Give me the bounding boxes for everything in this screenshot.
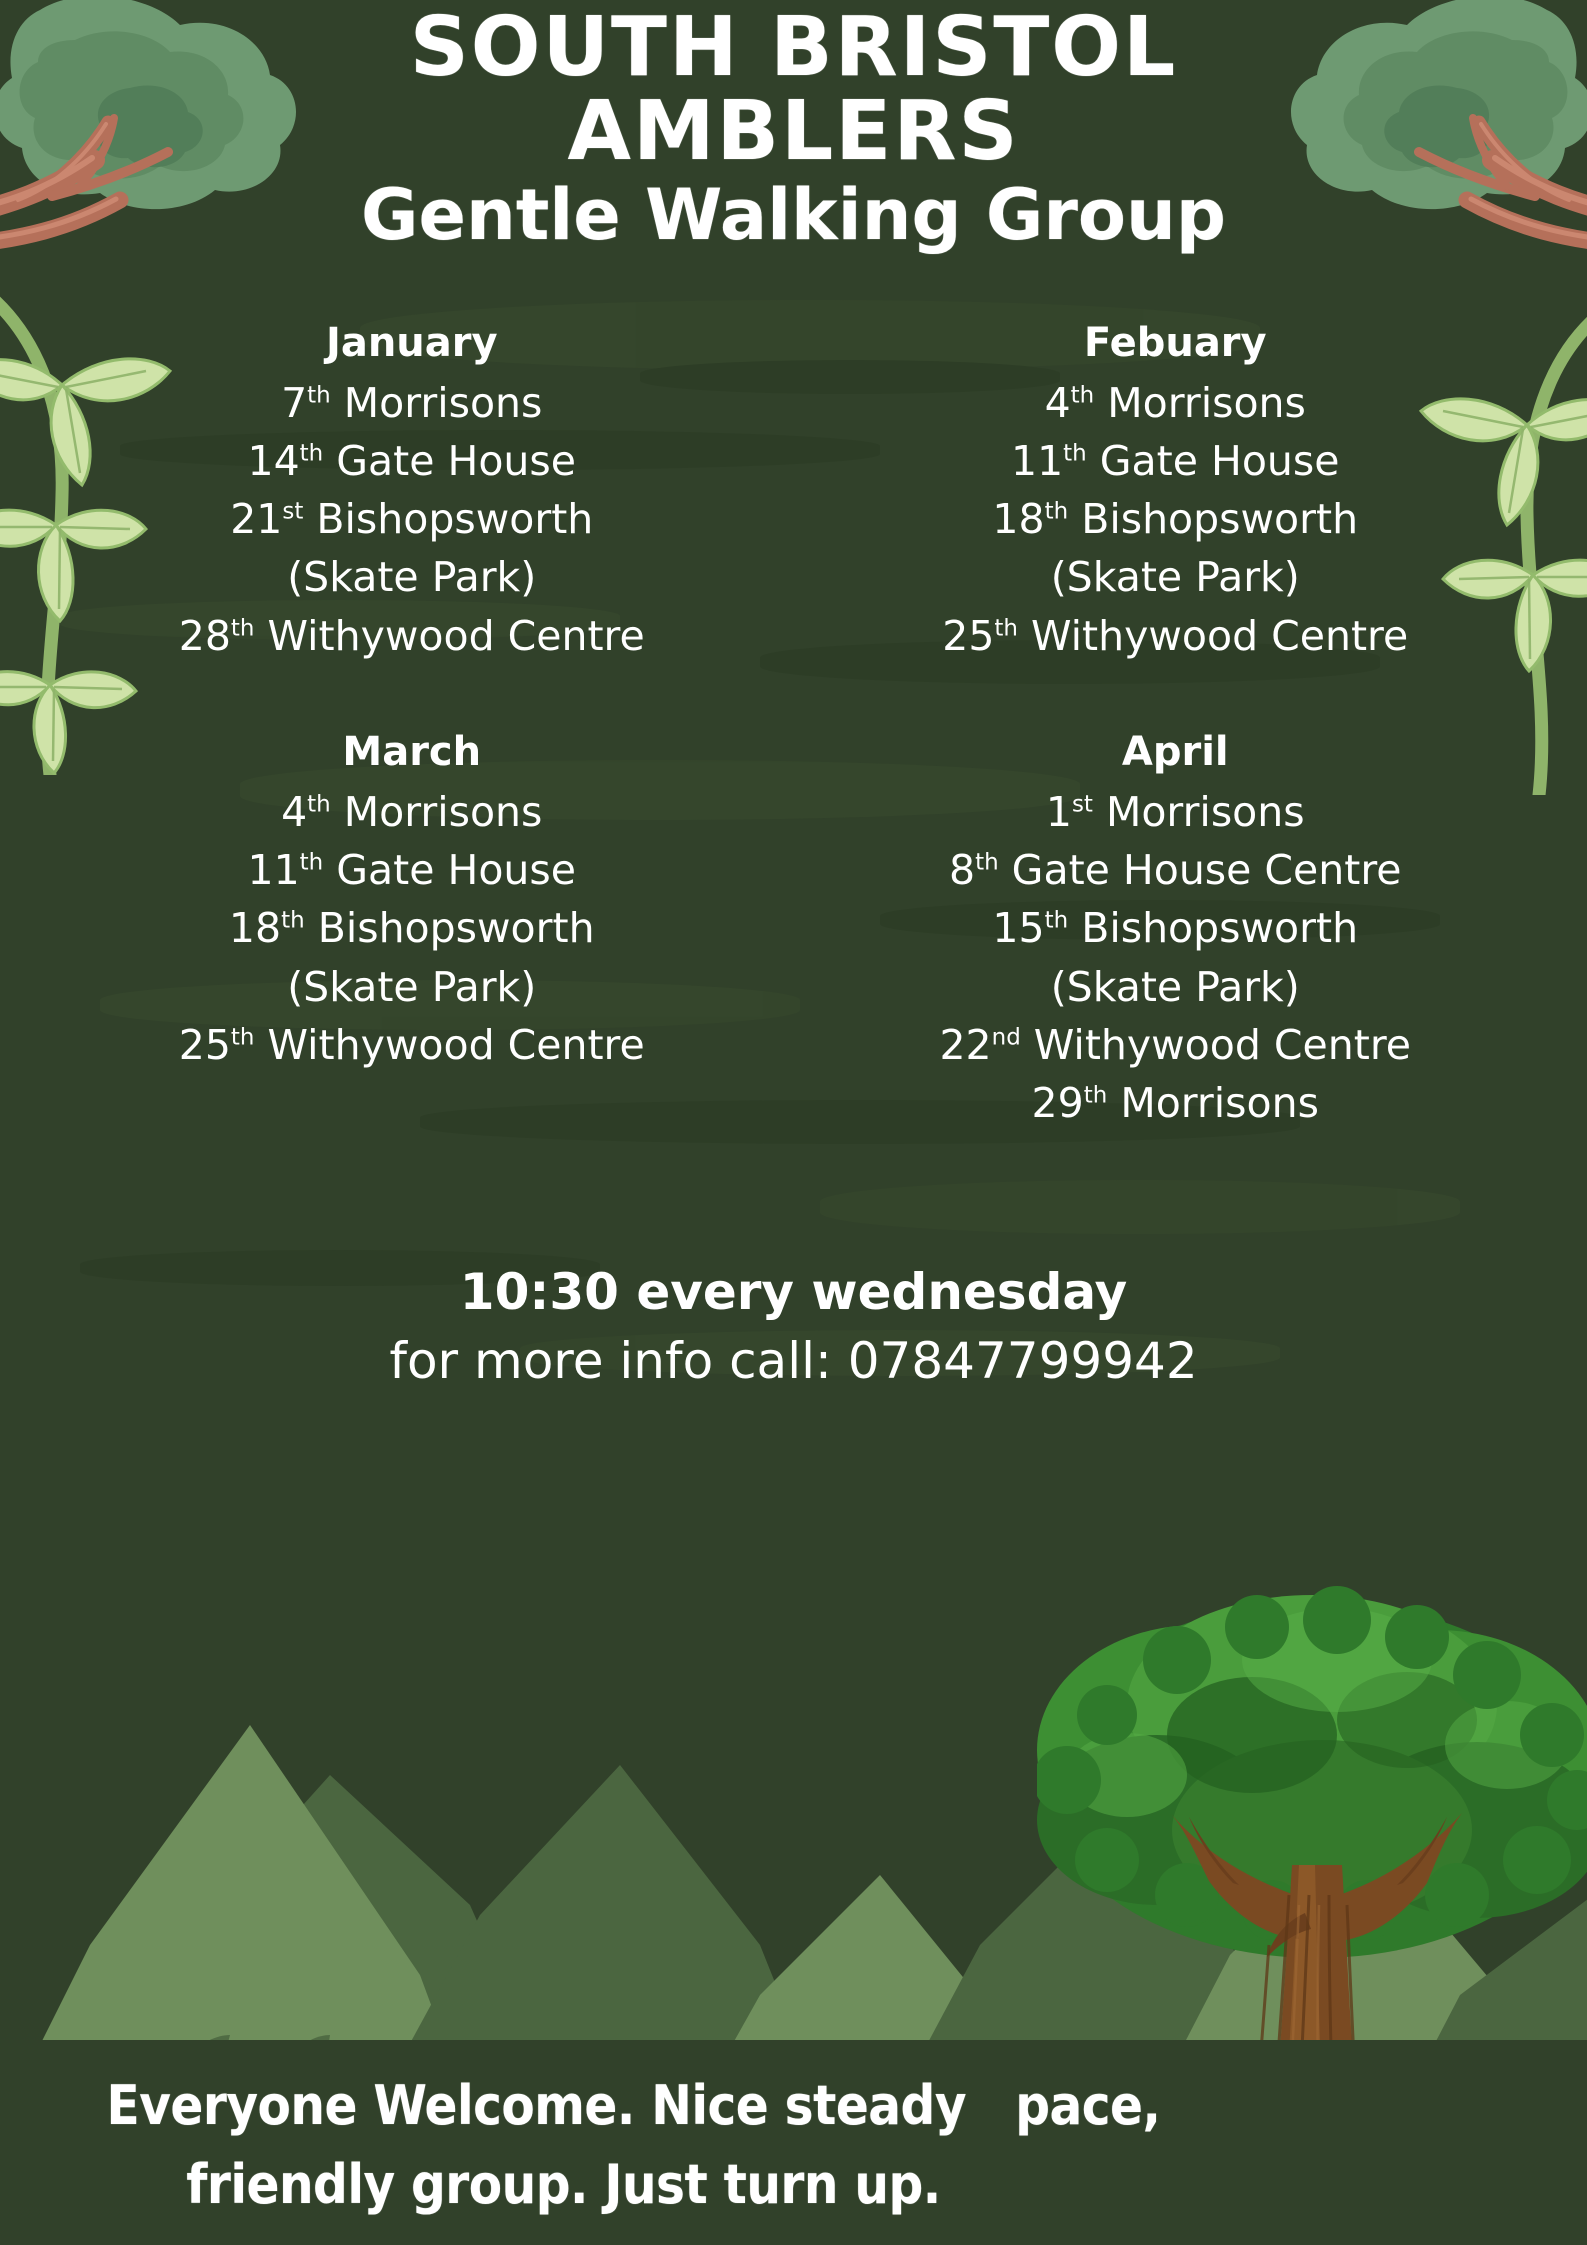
schedule-grid: January7th Morrisons14th Gate House21st …: [0, 316, 1587, 1132]
footer-line-2: friendly group. Just turn up.: [0, 2146, 1587, 2224]
schedule-entry: 14th Gate House: [30, 432, 794, 490]
entry-place: Bishopsworth: [1068, 904, 1358, 952]
entry-ordinal: th: [307, 791, 331, 817]
entry-day: 15: [992, 904, 1044, 952]
entry-place: Morrisons: [1094, 379, 1306, 427]
entry-ordinal: th: [231, 615, 255, 641]
entry-place: Withywood Centre: [1021, 1021, 1411, 1069]
footer-line-1: Everyone Welcome. Nice steady pace,: [0, 2067, 1587, 2145]
entry-ordinal: th: [975, 849, 999, 875]
entry-day: 18: [992, 495, 1044, 543]
entry-ordinal: th: [1071, 382, 1095, 408]
entry-day: 21: [230, 495, 282, 543]
schedule-entry: 4th Morrisons: [794, 374, 1558, 432]
month-name: April: [794, 725, 1558, 779]
meeting-time: 10:30 every wednesday: [0, 1260, 1587, 1325]
entry-day: 25: [179, 1021, 231, 1069]
entry-day: 29: [1032, 1079, 1084, 1127]
schedule-entry: 1st Morrisons: [794, 783, 1558, 841]
entry-place: Morrisons: [331, 379, 543, 427]
entry-ordinal: th: [994, 615, 1018, 641]
entry-ordinal: th: [231, 1024, 255, 1050]
entry-day: 28: [179, 612, 231, 660]
month-column: January7th Morrisons14th Gate House21st …: [30, 316, 794, 665]
entry-ordinal: st: [1072, 791, 1093, 817]
entry-place: Gate House: [323, 437, 576, 485]
title-line-2: AMBLERS: [0, 90, 1587, 174]
entry-place: Morrisons: [1093, 788, 1305, 836]
entry-day: 22: [939, 1021, 991, 1069]
entry-ordinal: th: [1084, 1082, 1108, 1108]
schedule-entry: 7th Morrisons: [30, 374, 794, 432]
footer-banner: Everyone Welcome. Nice steady pace, frie…: [0, 2040, 1587, 2245]
schedule-entry: 11th Gate House: [30, 841, 794, 899]
entry-place: Withywood Centre: [254, 612, 644, 660]
month-name: January: [30, 316, 794, 370]
entry-place: Gate House: [1087, 437, 1340, 485]
entry-place: Bishopsworth: [1068, 495, 1358, 543]
entry-sublocation: (Skate Park): [30, 548, 794, 606]
schedule-entry: 25th Withywood Centre: [30, 1016, 794, 1074]
entry-place: Bishopsworth: [303, 495, 593, 543]
entry-day: 18: [229, 904, 281, 952]
month-name: Febuary: [794, 316, 1558, 370]
entry-day: 1: [1046, 788, 1072, 836]
schedule-entry: 18th Bishopsworth: [794, 490, 1558, 548]
entry-place: Morrisons: [1107, 1079, 1319, 1127]
schedule-entry: 4th Morrisons: [30, 783, 794, 841]
schedule-entry: 29th Morrisons: [794, 1074, 1558, 1132]
entry-place: Gate House: [323, 846, 576, 894]
entry-ordinal: st: [282, 499, 303, 525]
entry-ordinal: th: [1063, 440, 1087, 466]
poster-root: SOUTH BRISTOL AMBLERS Gentle Walking Gro…: [0, 0, 1587, 2245]
entry-place: Bishopsworth: [305, 904, 595, 952]
entry-day: 4: [281, 788, 307, 836]
title-line-1: SOUTH BRISTOL: [0, 6, 1587, 90]
info-block: 10:30 every wednesday for more info call…: [0, 1260, 1587, 1394]
entry-place: Morrisons: [331, 788, 543, 836]
entry-sublocation: (Skate Park): [794, 548, 1558, 606]
entry-place: Withywood Centre: [254, 1021, 644, 1069]
entry-ordinal: th: [281, 908, 305, 934]
entry-day: 4: [1045, 379, 1071, 427]
month-column: March4th Morrisons11th Gate House18th Bi…: [30, 725, 794, 1132]
entry-day: 11: [1011, 437, 1063, 485]
entry-ordinal: th: [1045, 908, 1069, 934]
schedule-entry: 11th Gate House: [794, 432, 1558, 490]
schedule-entry: 18th Bishopsworth: [30, 899, 794, 957]
schedule-entry: 22nd Withywood Centre: [794, 1016, 1558, 1074]
schedule-entry: 28th Withywood Centre: [30, 607, 794, 665]
month-column: April1st Morrisons8th Gate House Centre1…: [794, 725, 1558, 1132]
entry-sublocation: (Skate Park): [30, 958, 794, 1016]
entry-ordinal: nd: [992, 1024, 1021, 1050]
poster-content: SOUTH BRISTOL AMBLERS Gentle Walking Gro…: [0, 0, 1587, 1394]
entry-ordinal: th: [307, 382, 331, 408]
entry-place: Gate House Centre: [999, 846, 1402, 894]
schedule-entry: 21st Bishopsworth: [30, 490, 794, 548]
title-block: SOUTH BRISTOL AMBLERS Gentle Walking Gro…: [0, 0, 1587, 256]
schedule-entry: 8th Gate House Centre: [794, 841, 1558, 899]
entry-ordinal: th: [1045, 499, 1069, 525]
entry-place: Withywood Centre: [1018, 612, 1408, 660]
month-column: Febuary4th Morrisons11th Gate House18th …: [794, 316, 1558, 665]
entry-sublocation: (Skate Park): [794, 958, 1558, 1016]
entry-ordinal: th: [300, 849, 324, 875]
entry-day: 25: [942, 612, 994, 660]
contact-phone: for more info call: 07847799942: [0, 1329, 1587, 1394]
entry-day: 7: [281, 379, 307, 427]
entry-day: 11: [248, 846, 300, 894]
schedule-entry: 25th Withywood Centre: [794, 607, 1558, 665]
subtitle: Gentle Walking Group: [0, 175, 1587, 256]
entry-day: 14: [248, 437, 300, 485]
month-name: March: [30, 725, 794, 779]
entry-day: 8: [949, 846, 975, 894]
entry-ordinal: th: [300, 440, 324, 466]
schedule-entry: 15th Bishopsworth: [794, 899, 1558, 957]
